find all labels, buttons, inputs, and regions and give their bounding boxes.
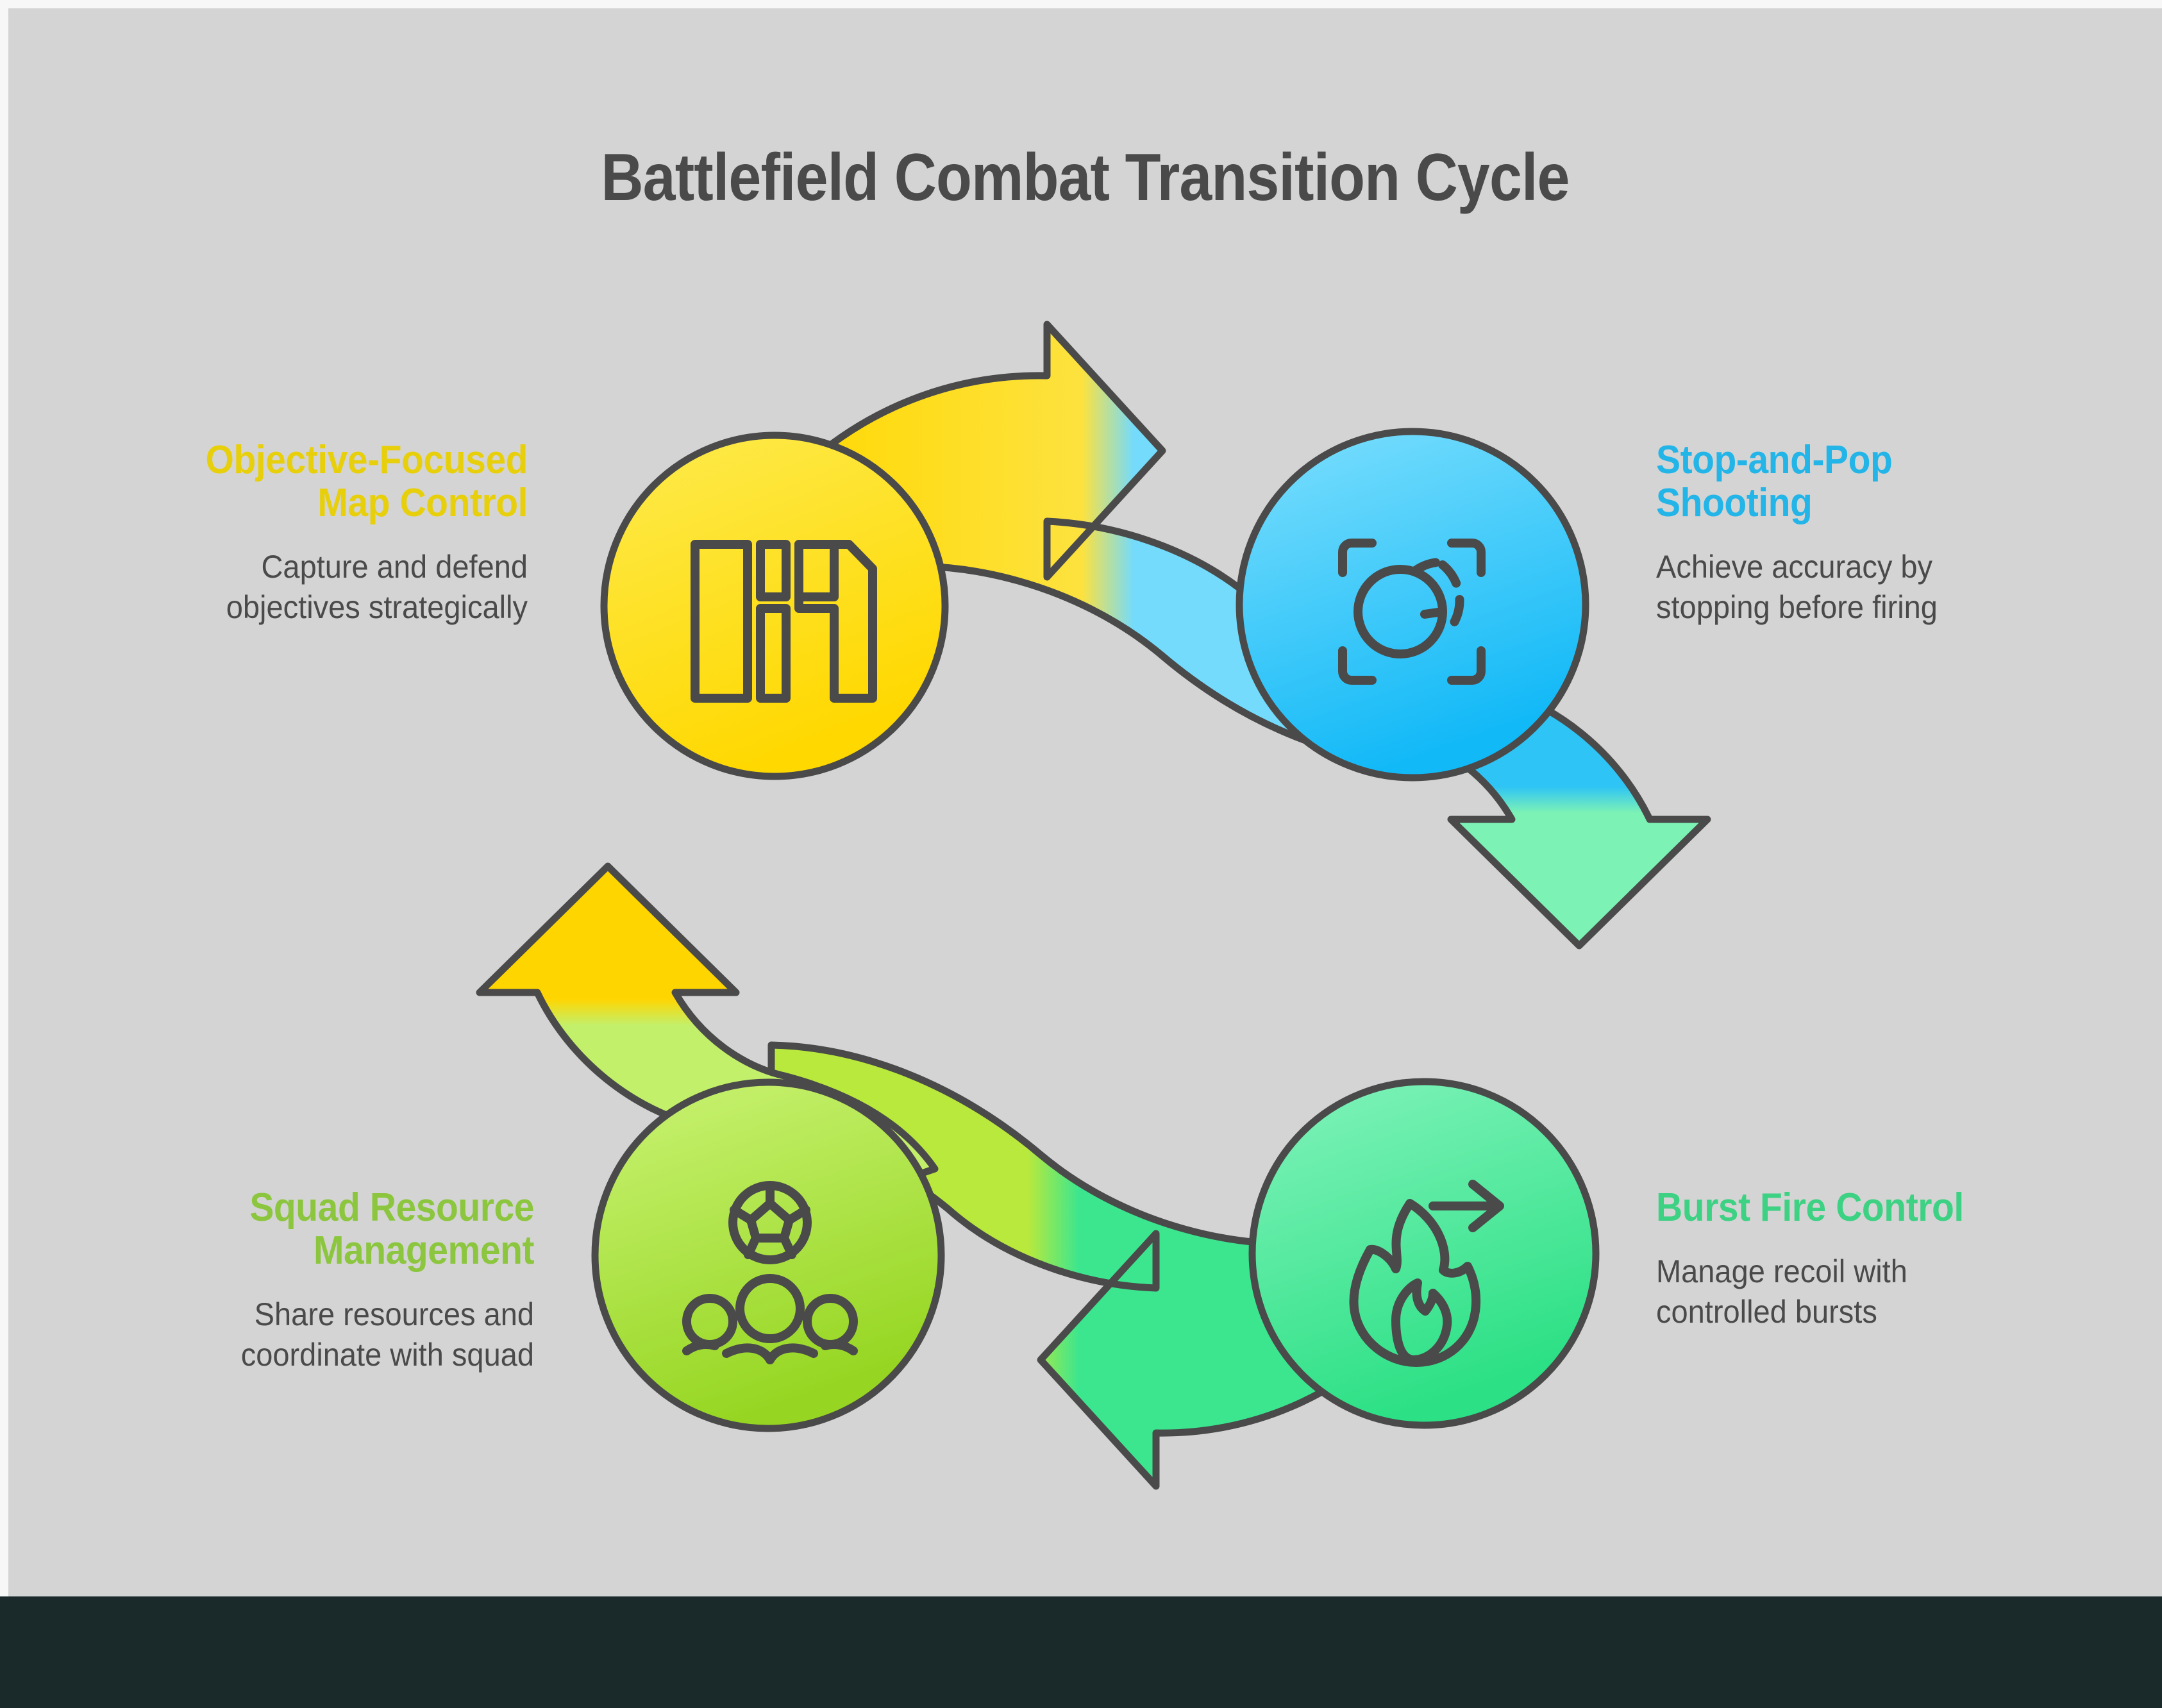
node-desc-stop-and-pop: Achieve accuracy by stopping before firi… bbox=[1656, 547, 2078, 628]
footer-band bbox=[0, 1596, 2162, 1708]
node-circle-burst-fire[interactable] bbox=[1252, 1082, 1596, 1425]
node-circle-stop-and-pop[interactable] bbox=[1239, 431, 1586, 778]
node-title-burst-fire: Burst Fire Control bbox=[1656, 1187, 2069, 1230]
node-label-squad-resources: Squad Resource Management Share resource… bbox=[85, 1187, 534, 1375]
node-label-map-control: Objective-Focused Map Control Capture an… bbox=[79, 439, 528, 628]
node-label-burst-fire: Burst Fire Control Manage recoil with co… bbox=[1656, 1187, 2105, 1332]
node-title-stop-and-pop: Stop-and-Pop Shooting bbox=[1656, 439, 2069, 525]
node-desc-squad-resources: Share resources and coordinate with squa… bbox=[112, 1294, 534, 1375]
node-desc-map-control: Capture and defend objectives strategica… bbox=[106, 547, 528, 628]
slide-area: Battlefield Combat Transition Cycle bbox=[8, 8, 2162, 1596]
node-title-squad-resources: Squad Resource Management bbox=[121, 1187, 534, 1273]
node-title-map-control: Objective-Focused Map Control bbox=[115, 439, 528, 525]
node-desc-burst-fire: Manage recoil with controlled bursts bbox=[1656, 1252, 2078, 1332]
node-label-stop-and-pop: Stop-and-Pop Shooting Achieve accuracy b… bbox=[1656, 439, 2105, 628]
diagram-canvas: Battlefield Combat Transition Cycle bbox=[0, 0, 2162, 1708]
